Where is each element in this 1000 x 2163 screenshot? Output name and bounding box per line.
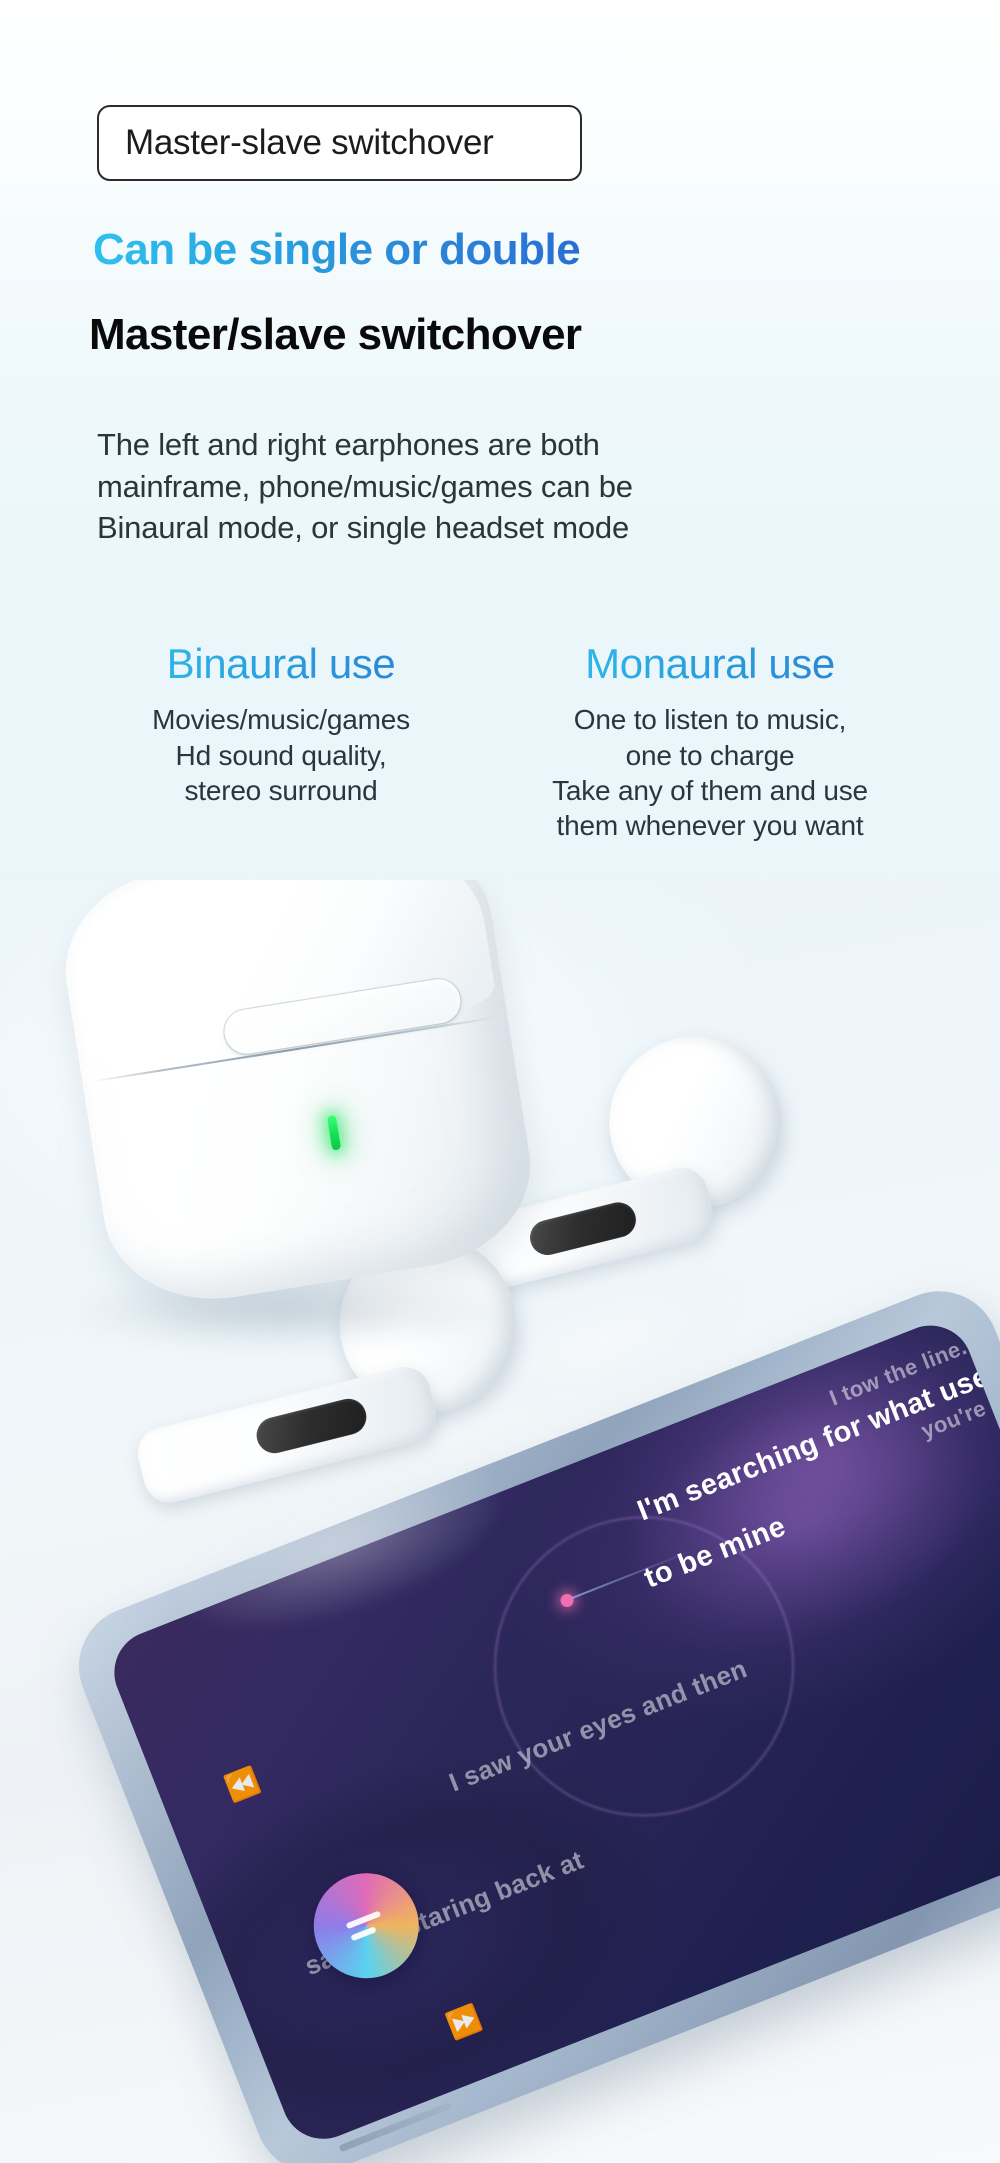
feature-monaural-body: One to listen to music, one to charge Ta…	[500, 702, 920, 843]
charging-status-led	[327, 1115, 341, 1151]
section-badge: Master-slave switchover	[97, 105, 582, 181]
product-marketing-page: Master-slave switchover Can be single or…	[0, 0, 1000, 2163]
page-title: Master/slave switchover	[89, 310, 581, 360]
description-line-3: Binaural mode, or single headset mode	[97, 507, 633, 549]
feature-binaural-body: Movies/music/games Hd sound quality, ste…	[80, 702, 482, 808]
section-badge-label: Master-slave switchover	[125, 123, 493, 163]
description-line-1: The left and right earphones are both	[97, 424, 633, 466]
charging-case	[52, 880, 546, 1328]
feature-monaural: Monaural use One to listen to music, one…	[500, 640, 920, 843]
feature-monaural-line-1: One to listen to music,	[500, 702, 920, 737]
charging-case-body	[52, 880, 544, 1315]
feature-binaural-line-3: stereo surround	[80, 773, 482, 808]
feature-binaural-line-2: Hd sound quality,	[80, 738, 482, 773]
feature-monaural-line-2: one to charge	[500, 738, 920, 773]
feature-binaural-line-1: Movies/music/games	[80, 702, 482, 737]
product-photo: I tow the line. See you're I'm searching…	[0, 880, 1000, 2163]
feature-monaural-heading: Monaural use	[500, 640, 920, 688]
page-subtitle: Can be single or double	[93, 225, 580, 275]
feature-monaural-line-3: Take any of them and use	[500, 773, 920, 808]
pause-icon	[346, 1911, 386, 1942]
feature-binaural-heading: Binaural use	[80, 640, 482, 688]
previous-track-icon[interactable]: ⏪	[221, 1764, 264, 1806]
feature-columns: Binaural use Movies/music/games Hd sound…	[80, 640, 920, 843]
next-track-icon[interactable]: ⏩	[443, 2001, 486, 2043]
description-line-2: mainframe, phone/music/games can be	[97, 466, 633, 508]
feature-binaural: Binaural use Movies/music/games Hd sound…	[80, 640, 500, 843]
feature-monaural-line-4: them whenever you want	[500, 808, 920, 843]
description-paragraph: The left and right earphones are both ma…	[97, 424, 633, 549]
